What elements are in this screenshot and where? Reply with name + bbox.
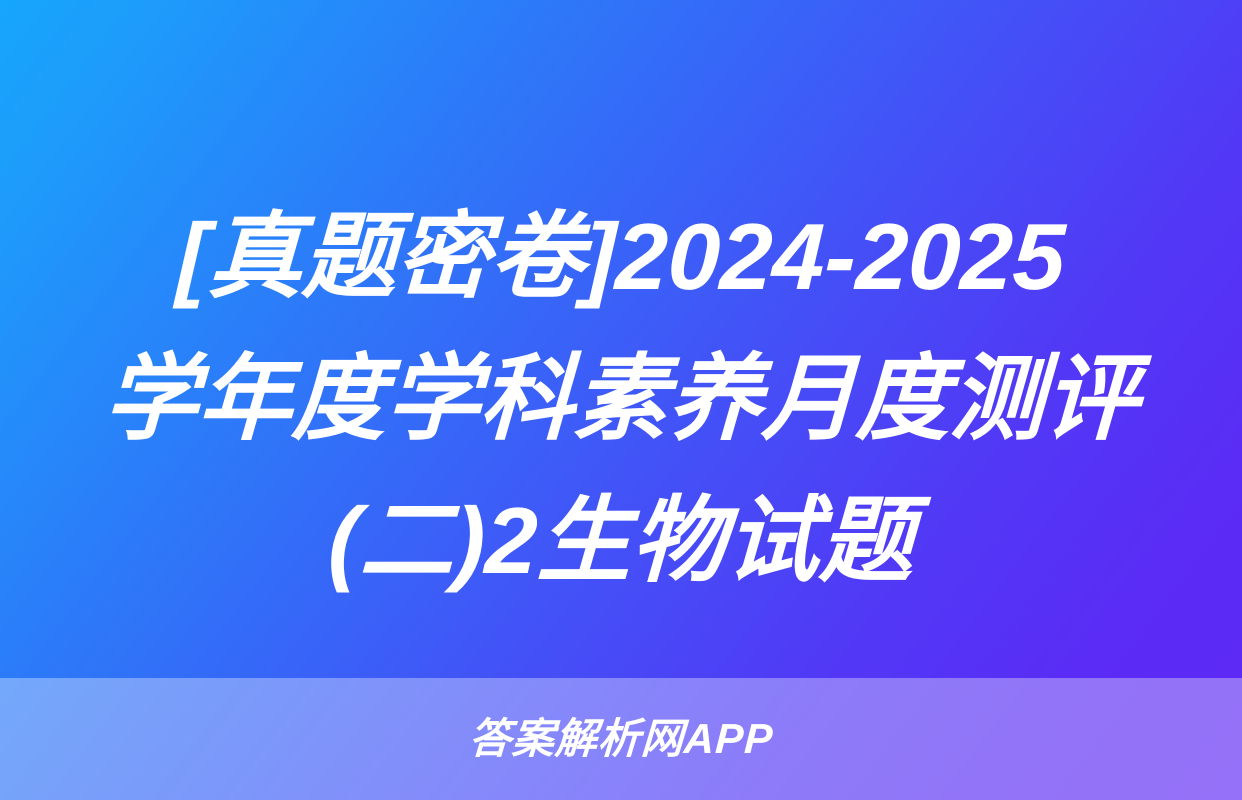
title-line-1: [真题密卷]2024-2025 bbox=[0, 186, 1242, 328]
app-watermark-label: 答案解析网APP bbox=[468, 718, 775, 760]
cover-card: [真题密卷]2024-2025 学年度学科素养月度测评 (二)2生物试题 答案解… bbox=[0, 0, 1242, 800]
page-title: [真题密卷]2024-2025 学年度学科素养月度测评 (二)2生物试题 bbox=[0, 186, 1242, 612]
title-line-3: (二)2生物试题 bbox=[0, 470, 1242, 612]
title-line-2: 学年度学科素养月度测评 bbox=[0, 328, 1242, 470]
footer-band: 答案解析网APP bbox=[0, 678, 1242, 800]
